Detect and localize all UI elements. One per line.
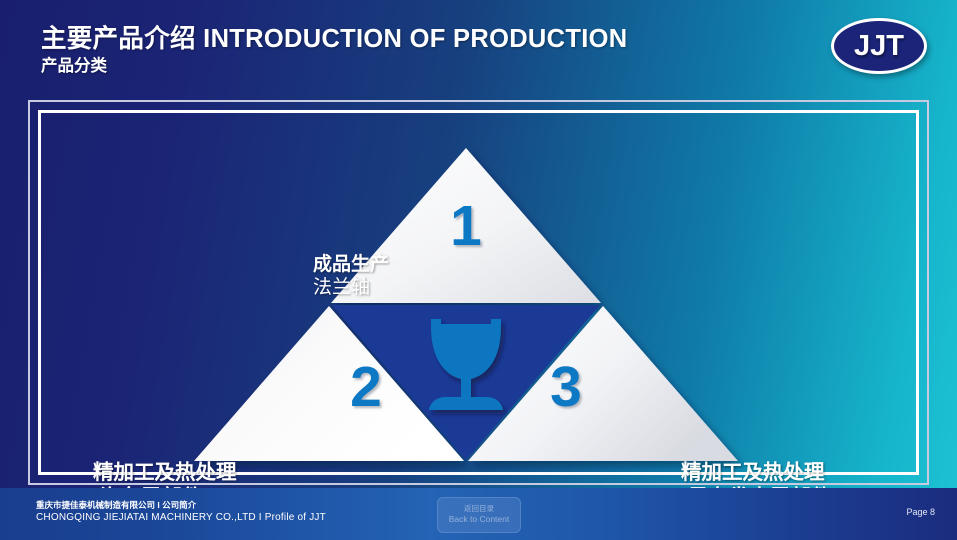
page-subtitle: 产品分类 bbox=[41, 57, 627, 77]
slide-canvas: 主要产品介绍 INTRODUCTION OF PRODUCTION 产品分类 J… bbox=[0, 0, 957, 540]
pyramid-diagram: 1 2 3 bbox=[41, 113, 942, 498]
segment-1-label: 成品生产 法兰轴 bbox=[313, 254, 389, 300]
segment-1-number: 1 bbox=[450, 194, 482, 258]
slide-footer: 重庆市捷佳泰机械制造有限公司 I 公司简介 CHONGQING JIEJIATA… bbox=[0, 488, 957, 540]
back-to-content-label-cn: 返回目录 bbox=[464, 504, 494, 515]
back-to-content-button[interactable]: 返回目录 Back to Content bbox=[437, 497, 521, 533]
page-number: Page 8 bbox=[906, 507, 935, 517]
segment-1-label-detail: 法兰轴 bbox=[313, 277, 389, 300]
pyramid-svg: 1 2 3 bbox=[41, 113, 926, 482]
segment-1-label-bold: 成品生产 bbox=[313, 254, 389, 277]
content-panel-outer-frame: 1 2 3 bbox=[28, 100, 929, 485]
slide-header: 主要产品介绍 INTRODUCTION OF PRODUCTION 产品分类 J… bbox=[0, 0, 957, 100]
page-title: 主要产品介绍 INTRODUCTION OF PRODUCTION bbox=[41, 25, 627, 54]
segment-2-number: 2 bbox=[350, 355, 382, 419]
segment-3-number: 3 bbox=[550, 355, 582, 419]
footer-company-block: 重庆市捷佳泰机械制造有限公司 I 公司简介 CHONGQING JIEJIATA… bbox=[36, 500, 326, 525]
jjt-logo: JJT bbox=[831, 18, 927, 74]
segment-2-label-bold-1: 精加工及热处理 bbox=[93, 461, 257, 486]
footer-company-en: CHONGQING JIEJIATAI MACHINERY CO.,LTD I … bbox=[36, 511, 326, 525]
segment-3-label-bold-1: 精加工及热处理 bbox=[681, 461, 845, 486]
footer-company-cn: 重庆市捷佳泰机械制造有限公司 I 公司简介 bbox=[36, 500, 326, 511]
back-to-content-label-en: Back to Content bbox=[449, 514, 509, 526]
content-panel-inner-frame: 1 2 3 bbox=[38, 110, 919, 475]
header-title-group: 主要产品介绍 INTRODUCTION OF PRODUCTION 产品分类 bbox=[41, 25, 627, 76]
logo-text: JJT bbox=[854, 32, 904, 61]
